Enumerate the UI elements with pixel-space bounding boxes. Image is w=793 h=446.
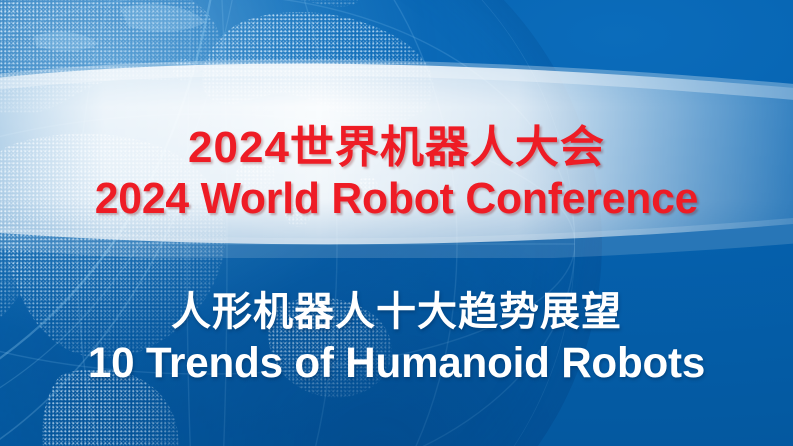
subtitle-title-en: 10 Trends of Humanoid Robots: [8, 342, 785, 385]
headline-title-cn: 2024世界机器人大会: [0, 126, 793, 170]
subtitle-block: 人形机器人十大趋势展望 10 Trends of Humanoid Robots: [0, 292, 793, 385]
headline-block: 2024世界机器人大会 2024 World Robot Conference: [0, 126, 793, 221]
conference-title-slide: 2024世界机器人大会 2024 World Robot Conference …: [0, 0, 793, 446]
subtitle-title-cn: 人形机器人十大趋势展望: [0, 292, 793, 332]
headline-title-en: 2024 World Robot Conference: [12, 177, 781, 221]
